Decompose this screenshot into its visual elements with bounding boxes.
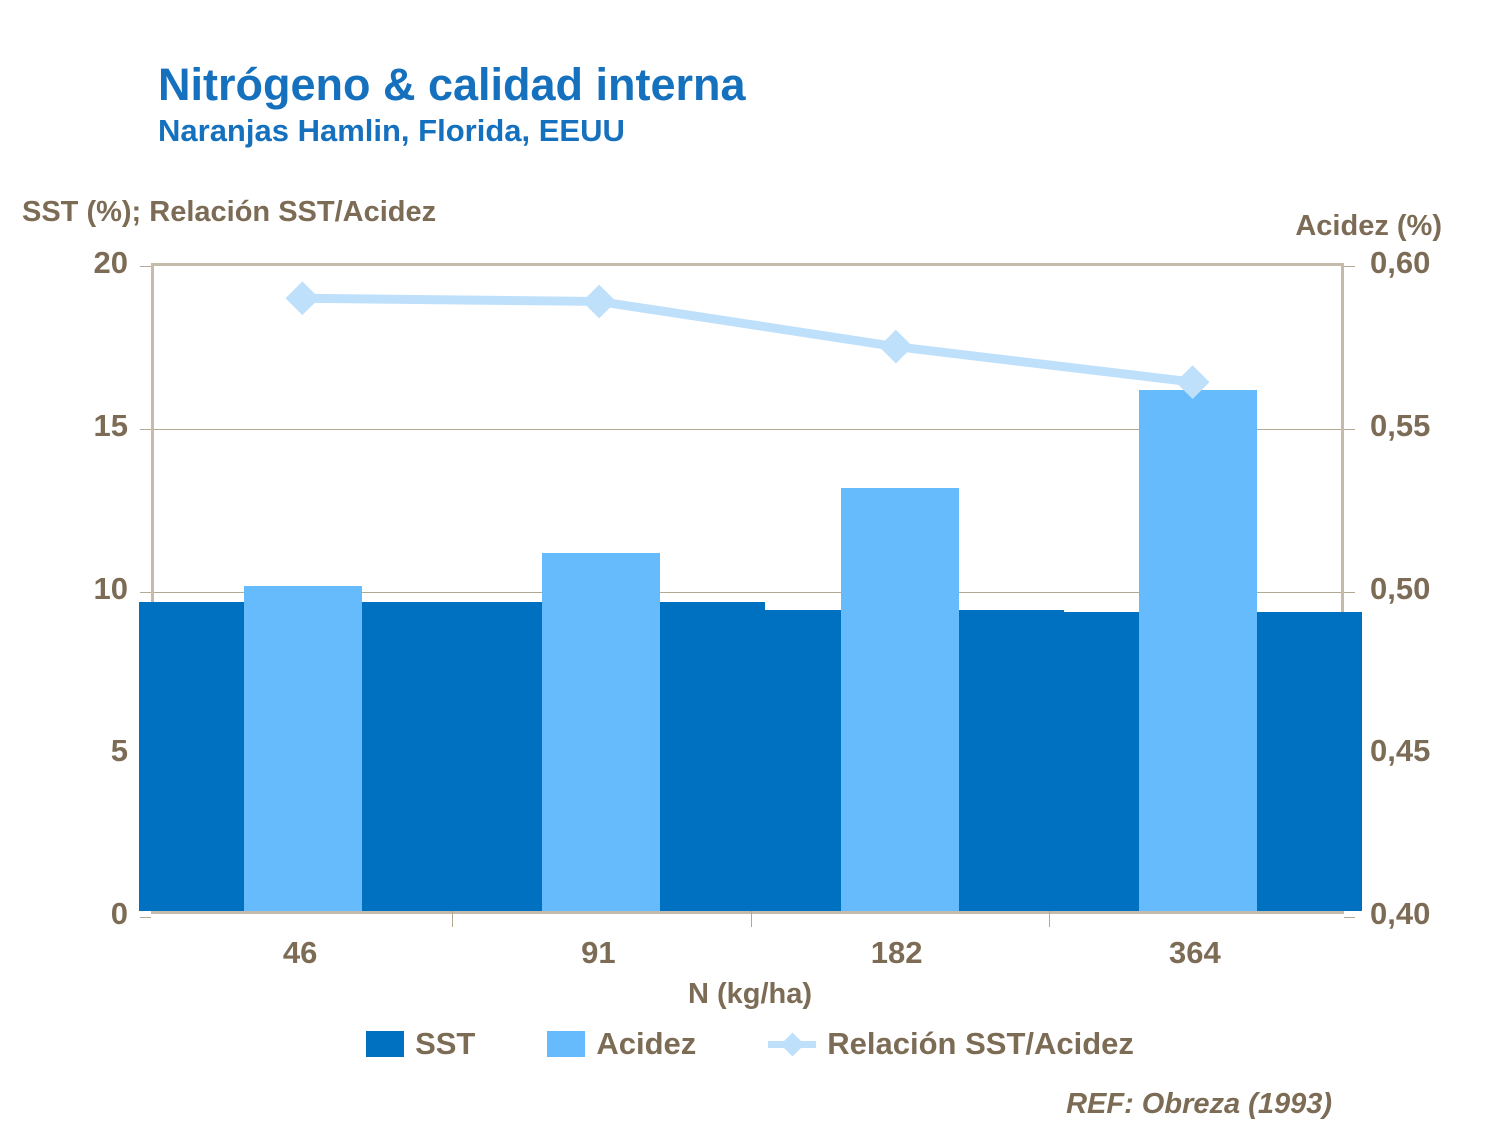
plot-area xyxy=(151,263,1344,914)
x-axis-title: N (kg/ha) xyxy=(0,978,1500,1011)
ratio-marker-diamond-icon[interactable] xyxy=(1176,365,1210,399)
legend: SST Acidez Relación SST/Acidez xyxy=(0,1026,1500,1062)
category-separator xyxy=(452,911,453,927)
left-axis-tick-label: 0 xyxy=(8,896,128,932)
right-axis-tick-label: 0,55 xyxy=(1370,408,1500,444)
right-axis-tick-label: 0,60 xyxy=(1370,245,1500,281)
left-axis-title: SST (%); Relación SST/Acidez xyxy=(22,196,436,229)
legend-swatch-sst-icon xyxy=(366,1031,404,1057)
left-tick-mark xyxy=(140,592,151,593)
ratio-line xyxy=(302,298,1192,382)
right-tick-mark xyxy=(1344,917,1355,918)
legend-label-acidez: Acidez xyxy=(596,1026,696,1062)
legend-line-diamond-icon xyxy=(768,1031,816,1057)
legend-item-sst[interactable]: SST xyxy=(366,1026,475,1062)
reference-note: REF: Obreza (1993) xyxy=(1066,1088,1332,1121)
ratio-marker-diamond-icon[interactable] xyxy=(582,285,616,319)
legend-label-sst: SST xyxy=(415,1026,475,1062)
x-axis-tick-label: 91 xyxy=(581,935,615,971)
page-subtitle: Naranjas Hamlin, Florida, EEUU xyxy=(158,112,746,150)
left-tick-mark xyxy=(140,429,151,430)
legend-item-acidez[interactable]: Acidez xyxy=(547,1026,696,1062)
ratio-marker-diamond-icon[interactable] xyxy=(879,330,913,364)
right-tick-mark xyxy=(1344,266,1355,267)
category-separator xyxy=(751,911,752,927)
left-axis-tick-label: 20 xyxy=(8,245,128,281)
title-block: Nitrógeno & calidad interna Naranjas Ham… xyxy=(158,58,746,150)
left-axis-tick-label: 10 xyxy=(8,571,128,607)
x-axis-tick-label: 182 xyxy=(871,935,923,971)
left-axis-tick-label: 15 xyxy=(8,408,128,444)
left-tick-mark xyxy=(140,917,151,918)
left-tick-mark xyxy=(140,266,151,267)
legend-label-relacion: Relación SST/Acidez xyxy=(827,1026,1134,1062)
x-axis-tick-label: 364 xyxy=(1169,935,1221,971)
legend-swatch-acidez-icon xyxy=(547,1031,585,1057)
left-axis-tick-label: 5 xyxy=(8,733,128,769)
page-title: Nitrógeno & calidad interna xyxy=(158,58,746,112)
x-axis-tick-label: 46 xyxy=(283,935,317,971)
right-axis-title: Acidez (%) xyxy=(1295,210,1442,243)
ratio-line-series xyxy=(154,266,1341,911)
category-separator xyxy=(1049,911,1050,927)
right-axis-tick-label: 0,45 xyxy=(1370,733,1500,769)
right-tick-mark xyxy=(1344,429,1355,430)
right-tick-mark xyxy=(1344,592,1355,593)
right-axis-tick-label: 0,50 xyxy=(1370,571,1500,607)
legend-item-relacion[interactable]: Relación SST/Acidez xyxy=(768,1026,1134,1062)
right-axis-tick-label: 0,40 xyxy=(1370,896,1500,932)
ratio-marker-diamond-icon[interactable] xyxy=(285,281,319,315)
